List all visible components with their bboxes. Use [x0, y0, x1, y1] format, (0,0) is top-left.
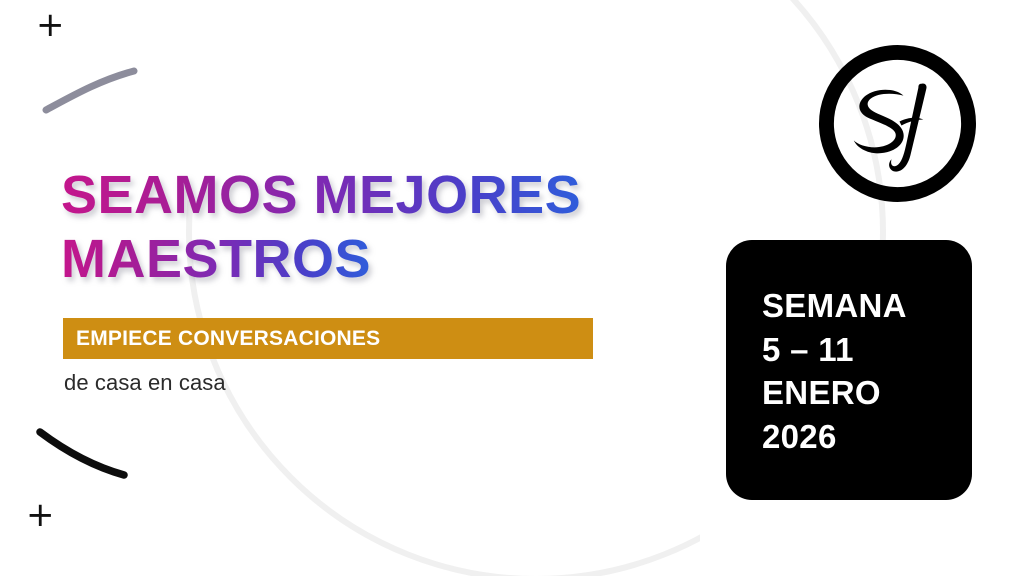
- slide-canvas: + + SEAMOS MEJORES MAESTROS EMPIECE CONV…: [0, 0, 1024, 576]
- brush-stroke-bottom-left: [34, 424, 134, 482]
- plus-icon-top: +: [36, 8, 65, 42]
- date-badge-line-3: ENERO: [762, 371, 972, 415]
- date-badge-line-4: 2026: [762, 415, 972, 459]
- section-banner-label: EMPIECE CONVERSACIONES: [63, 327, 380, 351]
- date-badge: SEMANA 5 – 11 ENERO 2026: [726, 240, 972, 500]
- page-title-line-2: MAESTROS: [61, 228, 371, 292]
- date-badge-line-2: 5 – 11: [762, 328, 972, 372]
- date-badge-line-1: SEMANA: [762, 284, 972, 328]
- page-title-line-1: SEAMOS MEJORES: [61, 164, 581, 228]
- brush-stroke-top-left: [38, 62, 143, 117]
- section-banner: EMPIECE CONVERSACIONES: [63, 318, 593, 359]
- sj-logo-icon: [818, 44, 977, 203]
- plus-icon-bottom: +: [26, 498, 55, 532]
- subtitle-text: de casa en casa: [64, 370, 226, 396]
- page-title: SEAMOS MEJORES MAESTROS: [61, 164, 701, 291]
